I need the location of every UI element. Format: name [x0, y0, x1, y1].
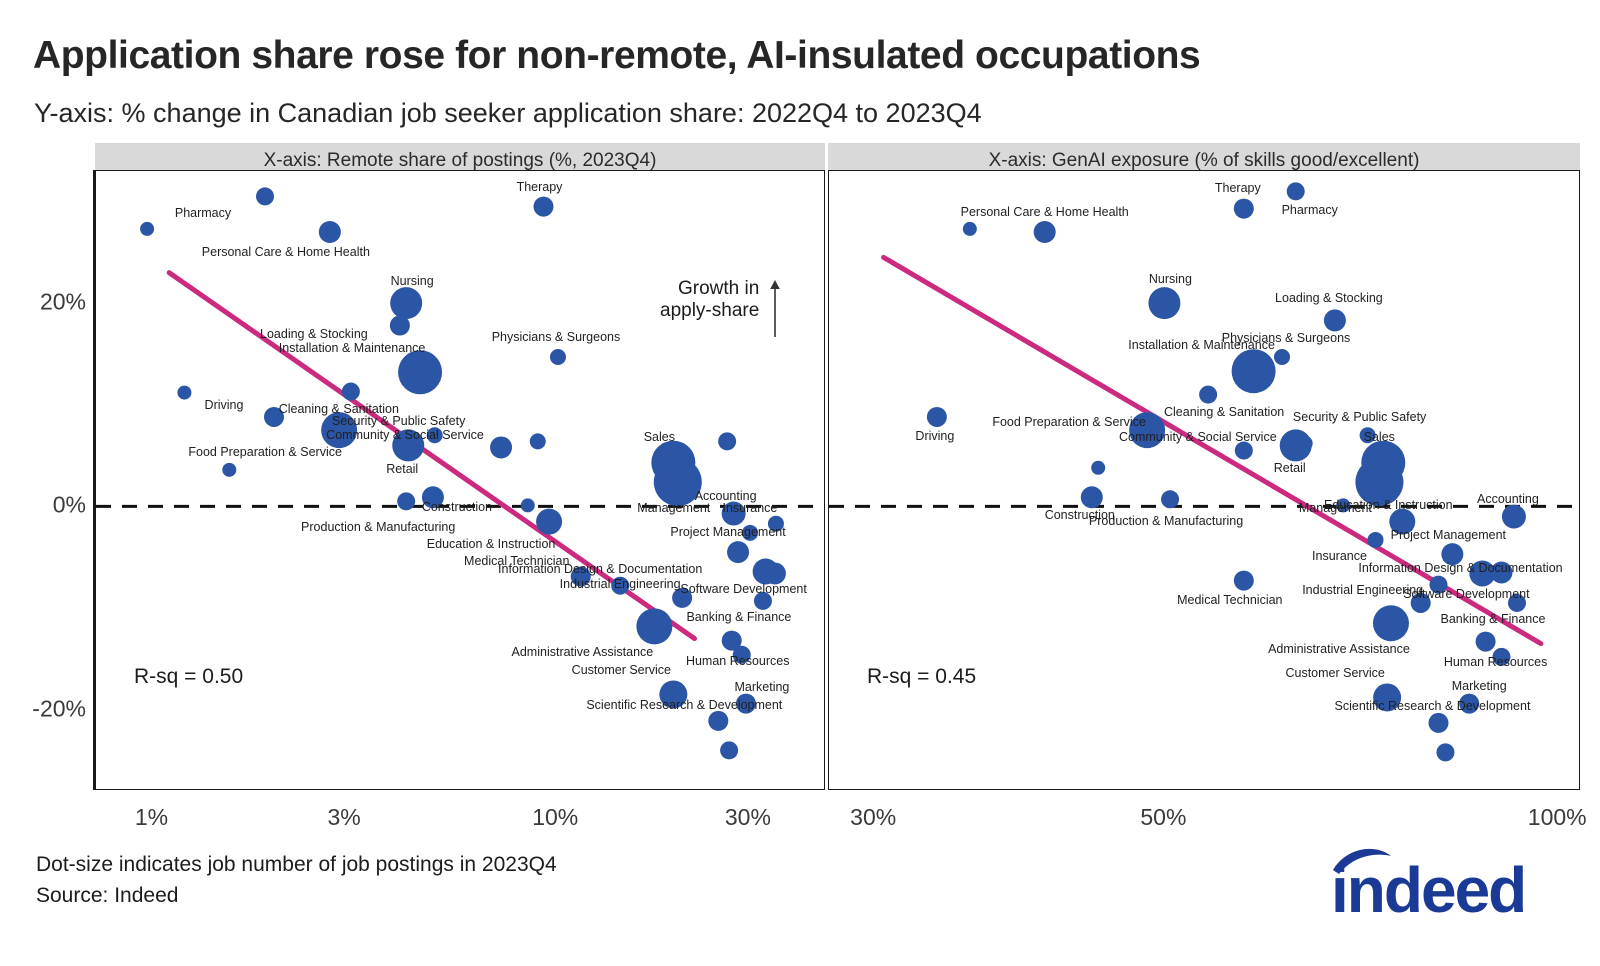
scatter-point[interactable] — [427, 427, 443, 443]
scatter-point[interactable] — [1373, 605, 1409, 641]
y-axis-tick: 20% — [26, 289, 86, 316]
scatter-point[interactable] — [1148, 287, 1180, 319]
scatter-point[interactable] — [764, 562, 786, 584]
scatter-point[interactable] — [1373, 683, 1401, 711]
scatter-point[interactable] — [422, 486, 444, 508]
scatter-point[interactable] — [636, 608, 672, 644]
scatter-point[interactable] — [521, 498, 535, 512]
scatter-point[interactable] — [1234, 571, 1254, 591]
scatter-point[interactable] — [342, 383, 360, 401]
x-axis-tick: 10% — [532, 804, 578, 831]
scatter-point[interactable] — [1129, 412, 1165, 448]
scatter-point[interactable] — [140, 222, 154, 236]
rsq-label: R-sq = 0.50 — [134, 665, 243, 689]
scatter-point[interactable] — [963, 222, 977, 236]
scatter-point[interactable] — [1081, 486, 1103, 508]
y-axis-tick: -20% — [26, 695, 86, 722]
scatter-point[interactable] — [1436, 743, 1454, 761]
scatter-point[interactable] — [1368, 532, 1384, 548]
scatter-point[interactable] — [736, 694, 756, 714]
scatter-point[interactable] — [1274, 349, 1290, 365]
scatter-point[interactable] — [390, 287, 422, 319]
x-axis-tick: 30% — [850, 804, 896, 831]
footer-source: Source: Indeed — [36, 884, 178, 908]
scatter-point[interactable] — [1459, 694, 1479, 714]
x-axis-tick: 1% — [135, 804, 168, 831]
scatter-point[interactable] — [1508, 594, 1526, 612]
scatter-point[interactable] — [1490, 561, 1512, 583]
page-title: Application share rose for non-remote, A… — [33, 34, 1573, 78]
scatter-point[interactable] — [177, 386, 191, 400]
scatter-point[interactable] — [1492, 648, 1510, 666]
scatter-point[interactable] — [659, 680, 687, 708]
scatter-point[interactable] — [1199, 386, 1217, 404]
scatter-point[interactable] — [397, 492, 415, 510]
scatter-point[interactable] — [768, 516, 784, 532]
indeed-logo: indeed — [1325, 840, 1555, 920]
scatter-point[interactable] — [1324, 309, 1346, 331]
x-axis-tick: 100% — [1528, 804, 1587, 831]
scatter-point[interactable] — [720, 741, 738, 759]
scatter-point[interactable] — [742, 525, 758, 541]
scatter-panel-right: Personal Care & Home HealthTherapyPharma… — [828, 170, 1580, 790]
scatter-point[interactable] — [1502, 505, 1526, 529]
growth-annotation-line2: apply-share — [660, 300, 759, 321]
scatter-point[interactable] — [390, 315, 410, 335]
up-arrow-icon — [764, 277, 786, 339]
y-axis-tick: 0% — [26, 492, 86, 519]
scatter-point[interactable] — [1091, 461, 1105, 475]
scatter-point[interactable] — [754, 592, 772, 610]
svg-text:indeed: indeed — [1331, 854, 1525, 920]
scatter-point[interactable] — [1336, 498, 1350, 512]
x-axis-tick: 50% — [1140, 804, 1186, 831]
scatter-point[interactable] — [718, 432, 736, 450]
scatter-point[interactable] — [222, 463, 236, 477]
growth-annotation-line1: Growth in — [678, 278, 759, 299]
rsq-label: R-sq = 0.45 — [867, 665, 976, 689]
scatter-point[interactable] — [571, 567, 591, 587]
scatter-point[interactable] — [1234, 199, 1254, 219]
scatter-point[interactable] — [319, 221, 341, 243]
scatter-point[interactable] — [1360, 427, 1376, 443]
scatter-point[interactable] — [1161, 490, 1179, 508]
scatter-point[interactable] — [536, 509, 562, 535]
scatter-point[interactable] — [1280, 429, 1312, 461]
scatter-point[interactable] — [927, 407, 947, 427]
chart-subtitle: Y-axis: % change in Canadian job seeker … — [34, 98, 1574, 129]
scatter-point[interactable] — [654, 458, 702, 506]
scatter-point[interactable] — [722, 502, 746, 526]
scatter-point[interactable] — [1235, 442, 1253, 460]
x-axis-tick: 30% — [725, 804, 771, 831]
scatter-point[interactable] — [672, 588, 692, 608]
scatter-point[interactable] — [530, 433, 546, 449]
scatter-point[interactable] — [1034, 221, 1056, 243]
scatter-point[interactable] — [256, 187, 274, 205]
scatter-point[interactable] — [1428, 713, 1448, 733]
scatter-point[interactable] — [733, 646, 751, 664]
scatter-point[interactable] — [1389, 509, 1415, 535]
x-axis-tick: 3% — [327, 804, 360, 831]
plot-area — [829, 171, 1580, 790]
scatter-point[interactable] — [1411, 593, 1431, 613]
scatter-point[interactable] — [1429, 576, 1447, 594]
scatter-point[interactable] — [727, 541, 749, 563]
scatter-point[interactable] — [264, 407, 284, 427]
scatter-point[interactable] — [321, 412, 357, 448]
growth-annotation: Growth in apply-share — [660, 278, 759, 323]
scatter-point[interactable] — [392, 429, 424, 461]
scatter-point[interactable] — [1441, 543, 1463, 565]
scatter-point[interactable] — [1232, 349, 1276, 393]
footer-note: Dot-size indicates job number of job pos… — [36, 853, 557, 877]
scatter-point[interactable] — [611, 577, 629, 595]
scatter-point[interactable] — [1287, 182, 1305, 200]
scatter-point[interactable] — [1476, 632, 1496, 652]
scatter-point[interactable] — [490, 436, 512, 458]
scatter-point[interactable] — [398, 350, 442, 394]
scatter-point[interactable] — [550, 349, 566, 365]
scatter-point[interactable] — [1355, 458, 1403, 506]
scatter-point[interactable] — [708, 711, 728, 731]
scatter-panel-left: PharmacyPersonal Care & Home HealthNursi… — [95, 170, 825, 790]
plot-area — [96, 171, 825, 790]
scatter-point[interactable] — [534, 197, 554, 217]
